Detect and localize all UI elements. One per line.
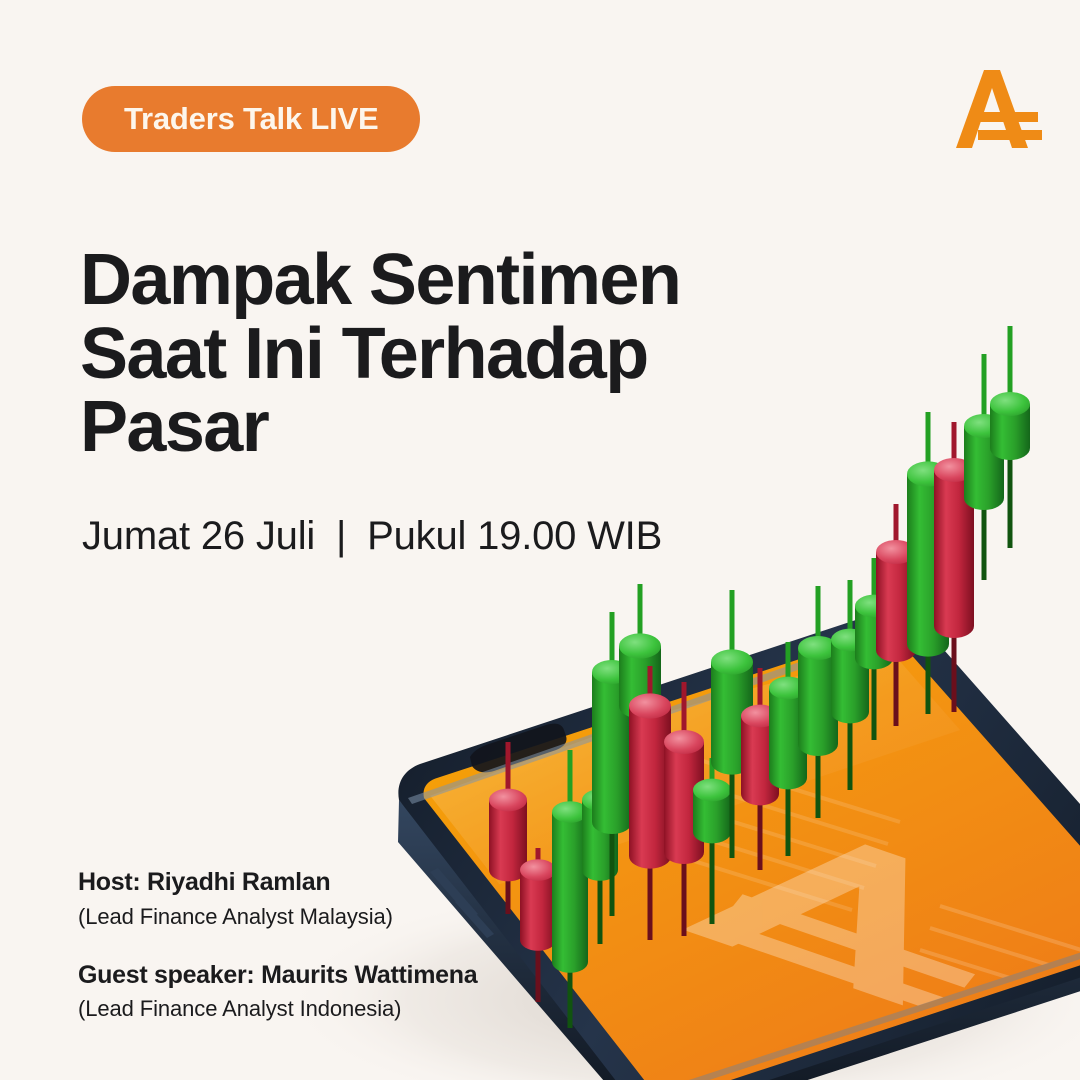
guest-name: Guest speaker: Maurits Wattimena	[78, 959, 477, 993]
host-name: Host: Riyadhi Ramlan	[78, 866, 477, 900]
headline-line-3: Pasar	[80, 391, 800, 464]
poster-content: Traders Talk LIVE Dampak Sentimen Saat I…	[0, 0, 1080, 1080]
guest-credit: Guest speaker: Maurits Wattimena (Lead F…	[78, 959, 477, 1026]
event-datetime: Jumat 26 Juli | Pukul 19.00 WIB	[82, 514, 662, 559]
host-credit: Host: Riyadhi Ramlan (Lead Finance Analy…	[78, 866, 477, 933]
page-title: Dampak Sentimen Saat Ini Terhadap Pasar	[80, 244, 800, 464]
headline-line-2: Saat Ini Terhadap	[80, 318, 800, 391]
live-badge: Traders Talk LIVE	[82, 86, 420, 152]
logo-svg	[948, 62, 1044, 158]
headline-line-1: Dampak Sentimen	[80, 244, 800, 317]
datetime-separator: |	[336, 514, 346, 559]
credits-block: Host: Riyadhi Ramlan (Lead Finance Analy…	[78, 866, 477, 1025]
poster-canvas: Traders Talk LIVE Dampak Sentimen Saat I…	[0, 0, 1080, 1080]
event-date: Jumat 26 Juli	[82, 514, 315, 558]
ascendex-a-logo	[948, 62, 1044, 158]
guest-role: (Lead Finance Analyst Indonesia)	[78, 994, 477, 1025]
event-time: Pukul 19.00 WIB	[367, 514, 662, 558]
host-role: (Lead Finance Analyst Malaysia)	[78, 902, 477, 933]
